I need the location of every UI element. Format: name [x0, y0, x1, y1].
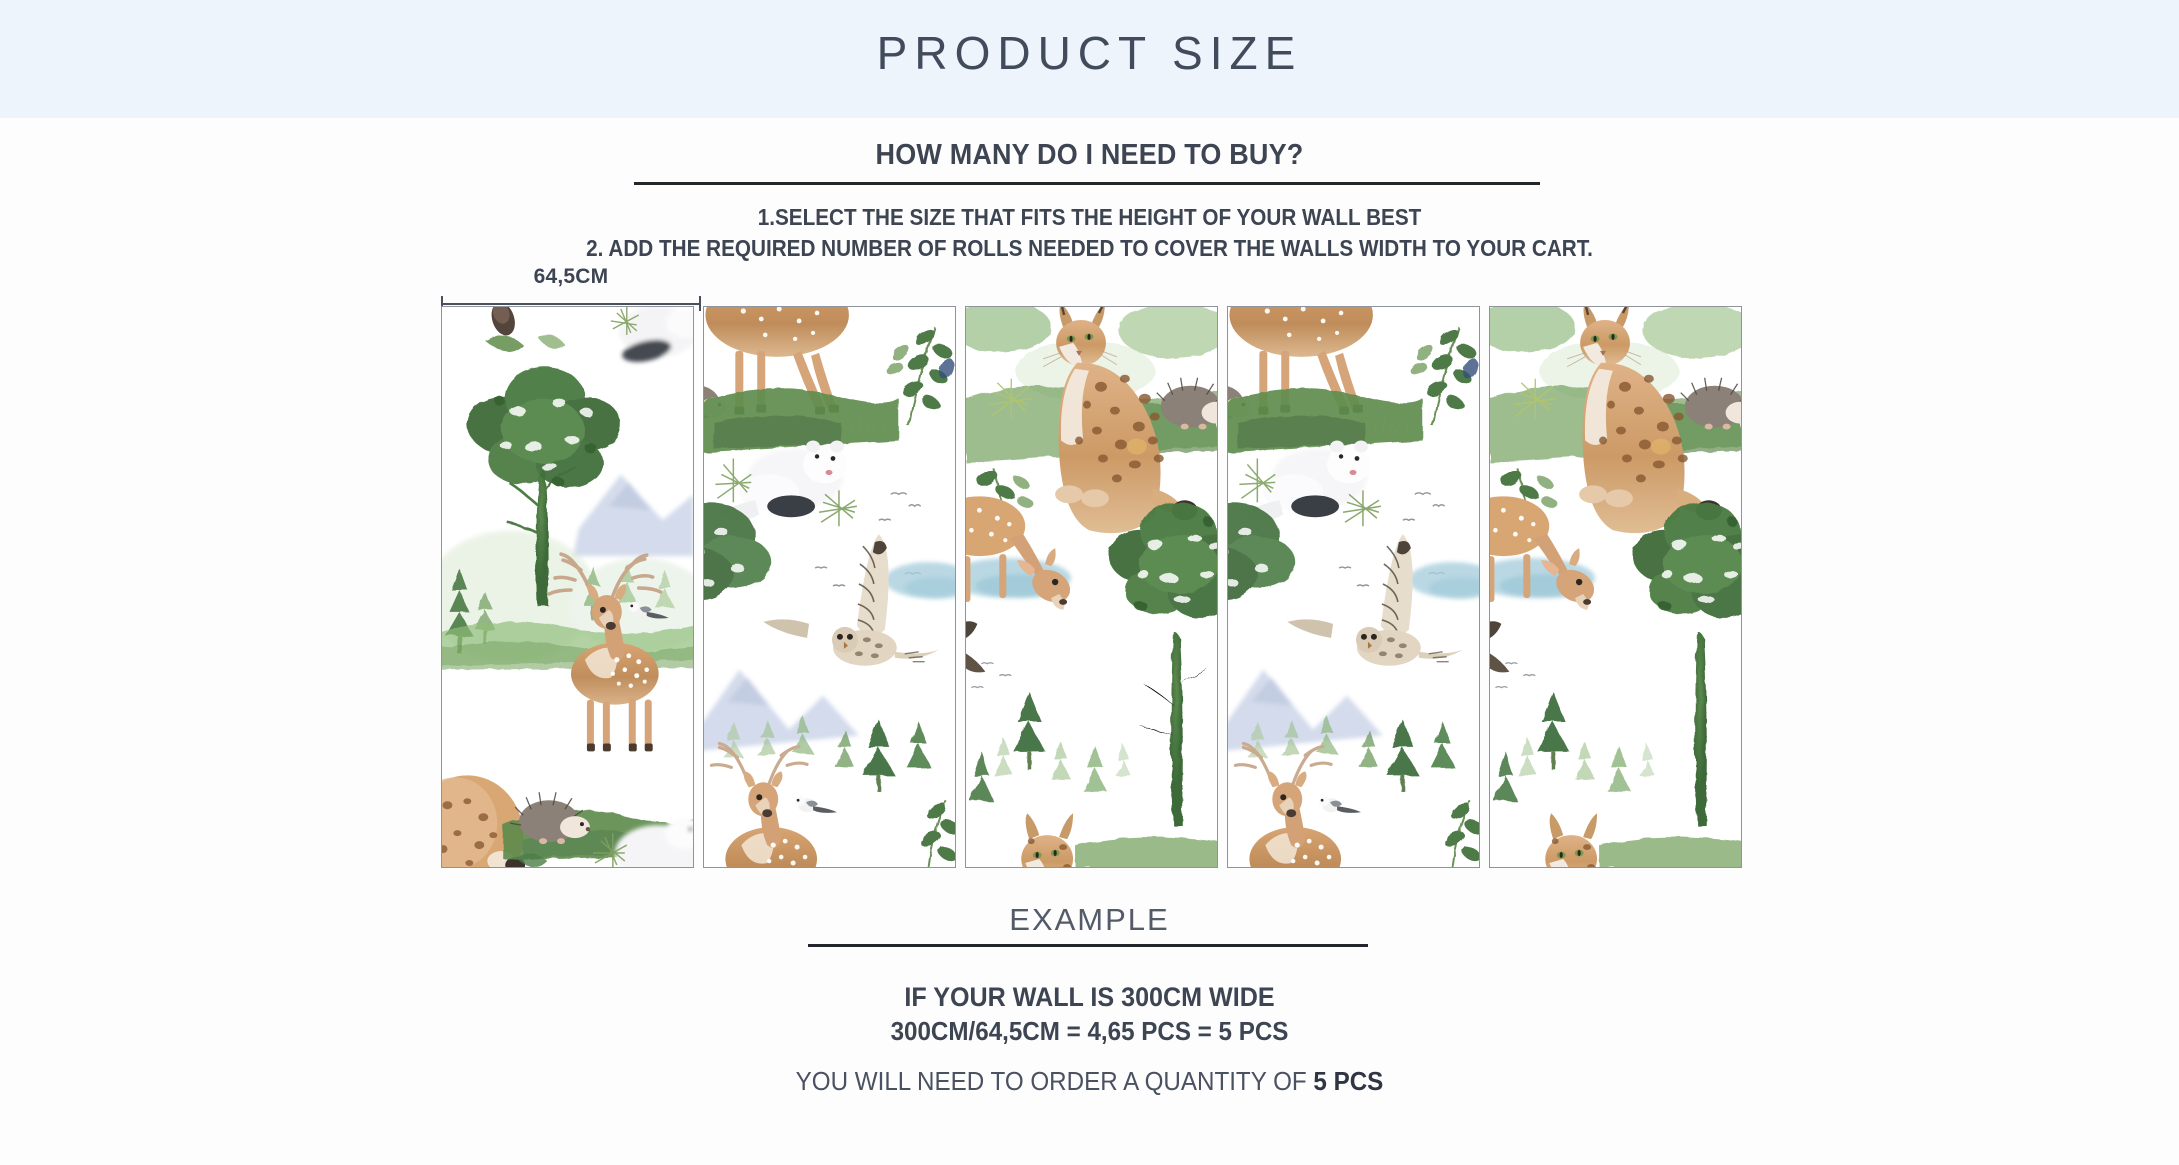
wallpaper-panel-strip [441, 306, 1738, 868]
example-heading: EXAMPLE [0, 902, 2179, 938]
wallpaper-panel-1[interactable] [441, 306, 694, 868]
fawn-eye [1052, 579, 1058, 585]
owl-head [832, 627, 858, 653]
example-conclusion: YOU WILL NEED TO ORDER A QUANTITY OF 5 P… [76, 1066, 2102, 1097]
wallpaper-artwork-a [442, 307, 693, 867]
wallpaper-artwork-b-repeat [1228, 307, 1479, 867]
page-title: PRODUCT SIZE [0, 26, 2179, 80]
example-wall-width: IF YOUR WALL IS 300CM WIDE [76, 982, 2102, 1013]
example-conclusion-quantity: 5 PCS [1313, 1066, 1383, 1096]
example-conclusion-prefix: YOU WILL NEED TO ORDER A QUANTITY OF [796, 1066, 1314, 1096]
wallpaper-panel-2[interactable] [703, 306, 956, 868]
wallpaper-panel-3[interactable] [965, 306, 1218, 868]
dimension-bar [441, 303, 701, 305]
example-calculation: 300CM/64,5CM = 4,65 PCS = 5 PCS [76, 1016, 2102, 1047]
deer-eye [600, 607, 606, 613]
wallpaper-artwork-c-repeat [1490, 307, 1741, 867]
instruction-step-2: 2. ADD THE REQUIRED NUMBER OF ROLLS NEED… [109, 235, 2070, 262]
roll-width-label: 64,5CM [441, 265, 701, 289]
lynx-head [1056, 320, 1106, 366]
ermine-eye [831, 456, 836, 461]
product-size-page: PRODUCT SIZE HOW MANY DO I NEED TO BUY? … [0, 0, 2179, 1165]
wallpaper-panel-5[interactable] [1489, 306, 1742, 868]
moss-ground-bottom [1075, 837, 1217, 867]
wallpaper-panel-4[interactable] [1227, 306, 1480, 868]
divider-example [808, 944, 1368, 947]
wallpaper-artwork-c [966, 307, 1217, 867]
subhead-question: HOW MANY DO I NEED TO BUY? [76, 139, 2102, 172]
moss-ground-bottom [1599, 837, 1741, 867]
instruction-step-1: 1.SELECT THE SIZE THAT FITS THE HEIGHT O… [109, 204, 2070, 231]
divider-top [634, 182, 1540, 185]
wallpaper-artwork-b [704, 307, 955, 867]
